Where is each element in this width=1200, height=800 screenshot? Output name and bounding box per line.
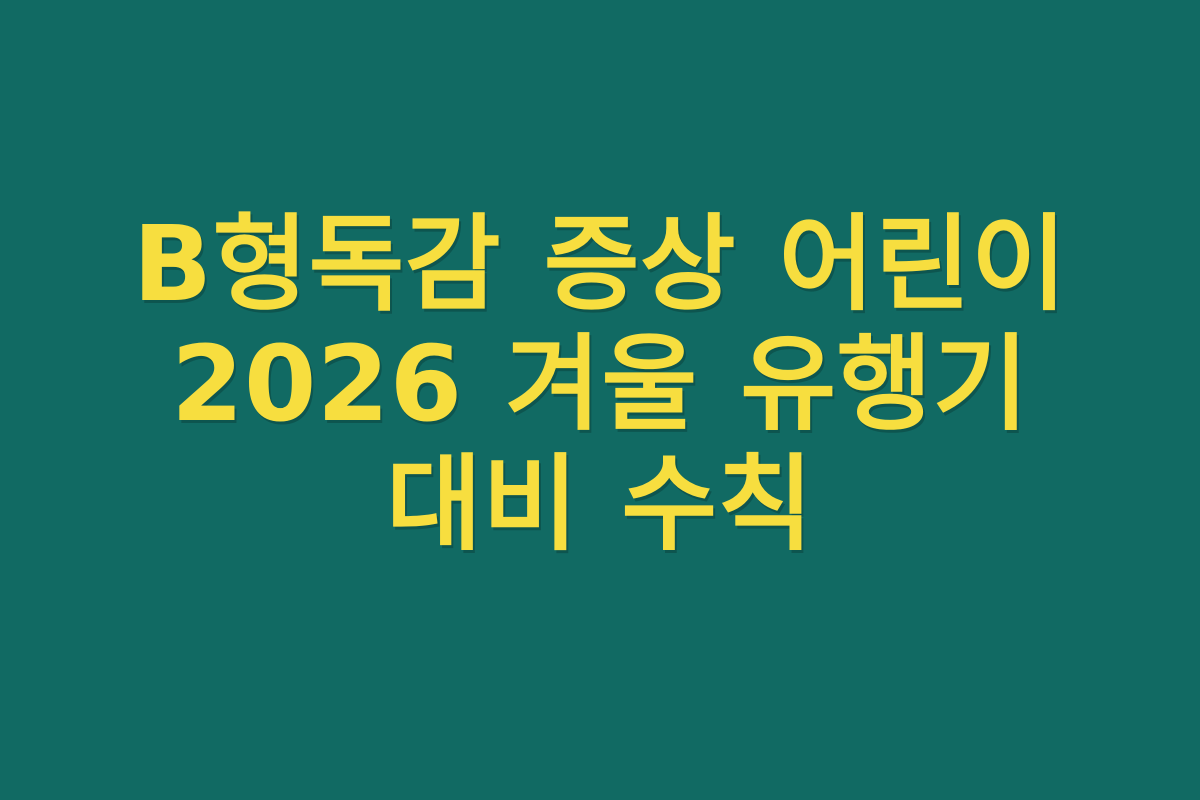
title-thumbnail-card: B형독감 증상 어린이 2026 겨울 유행기 대비 수칙 xyxy=(0,0,1200,800)
title-block: B형독감 증상 어린이 2026 겨울 유행기 대비 수칙 xyxy=(95,204,1105,564)
page-title: B형독감 증상 어린이 2026 겨울 유행기 대비 수칙 xyxy=(95,204,1105,564)
